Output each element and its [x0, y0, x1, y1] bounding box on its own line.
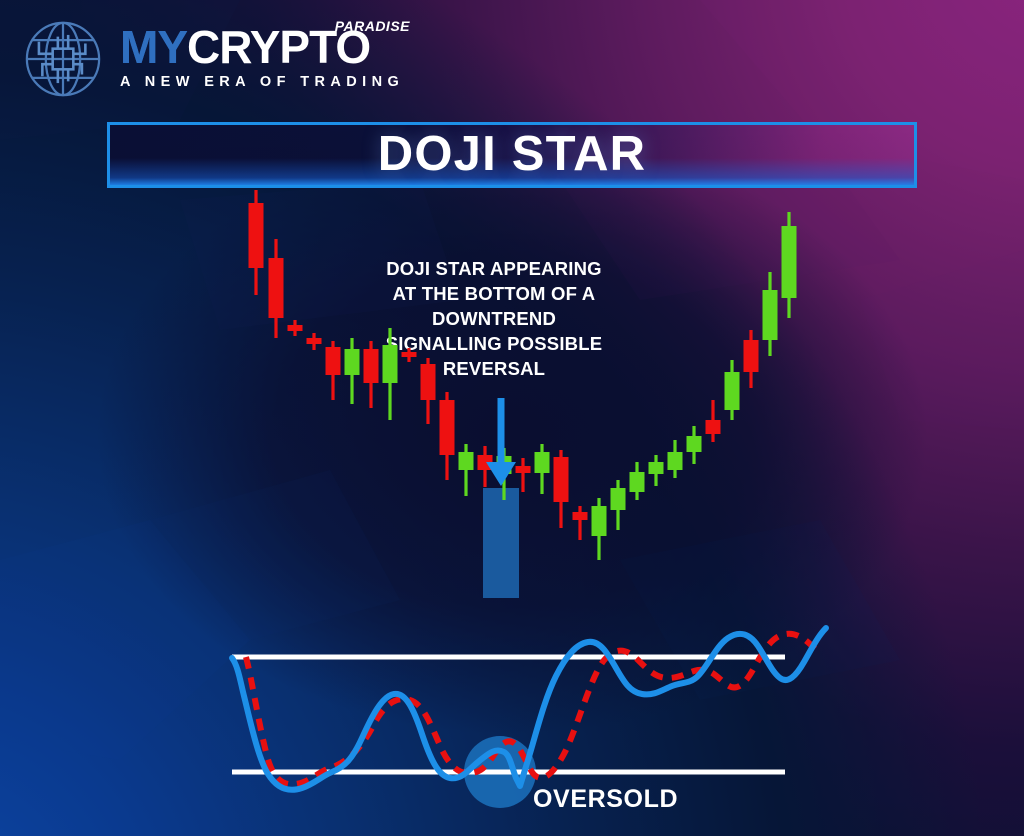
- candle-wick: [521, 458, 524, 492]
- brand-name-my: MY: [120, 21, 187, 73]
- candle-body: [440, 400, 455, 455]
- candle-body: [649, 462, 664, 474]
- stochastic-oscillator: [0, 600, 1024, 836]
- brand-wordmark: MYCRYPTO PARADISE A NEW ERA OF TRADING: [120, 22, 410, 98]
- globe-circuit-icon: [20, 16, 106, 102]
- candle-body: [573, 512, 588, 520]
- brand-logo[interactable]: MYCRYPTO PARADISE A NEW ERA OF TRADING: [16, 12, 416, 104]
- candle-body: [402, 352, 417, 357]
- candle-body: [725, 372, 740, 410]
- candle-body: [269, 258, 284, 318]
- candle-body: [345, 349, 360, 375]
- candle-body: [516, 466, 531, 473]
- candle-body: [744, 340, 759, 372]
- candle-body: [687, 436, 702, 452]
- candle-body: [364, 349, 379, 383]
- candle-body: [459, 452, 474, 470]
- candle-body: [668, 452, 683, 470]
- candlestick-chart: [0, 190, 1024, 620]
- candle-body: [288, 325, 303, 331]
- candle-body: [554, 457, 569, 502]
- candle-body: [307, 338, 322, 344]
- candle-body: [782, 226, 797, 298]
- page-title: DOJI STAR: [110, 125, 914, 185]
- brand-superscript: PARADISE: [335, 18, 410, 34]
- candle-wick: [578, 506, 581, 540]
- candle-series: [249, 190, 797, 560]
- infographic-canvas: MYCRYPTO PARADISE A NEW ERA OF TRADING D…: [0, 0, 1024, 836]
- percent-k-line: [232, 628, 826, 790]
- oversold-label: OVERSOLD: [533, 785, 678, 814]
- candle-body: [249, 203, 264, 268]
- candle-body: [421, 364, 436, 400]
- candle-body: [763, 290, 778, 340]
- candle-body: [630, 472, 645, 492]
- candle-body: [706, 420, 721, 434]
- candle-body: [535, 452, 550, 473]
- candle-body: [592, 506, 607, 536]
- candle-body: [611, 488, 626, 510]
- candle-body: [383, 345, 398, 383]
- title-banner: DOJI STAR: [107, 122, 917, 188]
- doji-highlight-box: [483, 488, 519, 598]
- candle-body: [326, 347, 341, 375]
- brand-tagline: A NEW ERA OF TRADING: [120, 74, 410, 90]
